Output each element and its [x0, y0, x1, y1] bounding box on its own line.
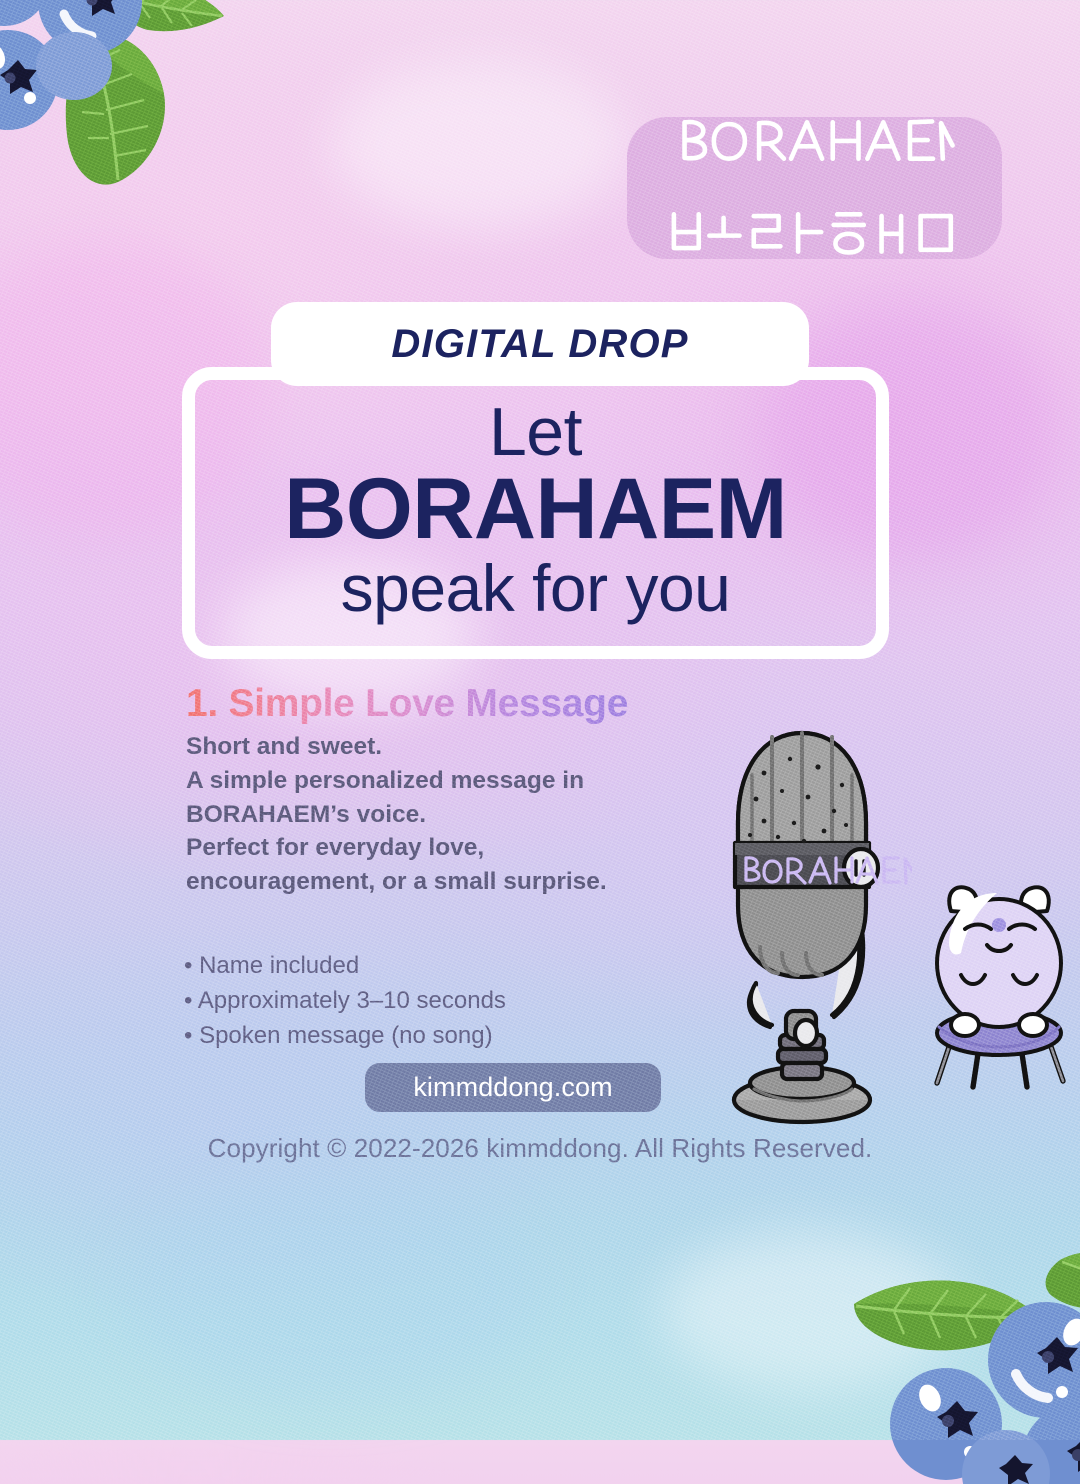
body-line: encouragement, or a small surprise.	[186, 865, 686, 899]
body-line: BORAHAEM’s voice.	[186, 798, 686, 832]
vintage-microphone-illustration	[694, 715, 912, 1130]
headline-line-2: BORAHAEM	[182, 466, 889, 554]
digital-drop-badge: DIGITAL DROP	[271, 302, 809, 386]
brand-logo-badge	[627, 117, 1002, 259]
body-line: A simple personalized message in	[186, 764, 686, 798]
brand-logo-lettering	[660, 117, 970, 209]
list-item: • Spoken message (no song)	[184, 1018, 654, 1053]
list-item: • Approximately 3–10 seconds	[184, 983, 654, 1018]
website-url-label: kimmddong.com	[413, 1072, 612, 1103]
body-line: Perfect for everyday love,	[186, 831, 686, 865]
wash-blue-bottom	[120, 1180, 540, 1400]
digital-drop-label: DIGITAL DROP	[391, 322, 688, 367]
blueberry-cluster-top-left	[0, 0, 234, 208]
copyright-text: Copyright © 2022-2026 kimmddong. All Rig…	[0, 1133, 1080, 1164]
body-line: Short and sweet.	[186, 730, 686, 764]
section-body: Short and sweet. A simple personalized m…	[186, 730, 686, 899]
hamster-mascot-illustration	[921, 875, 1076, 1090]
headline-line-3: speak for you	[182, 554, 889, 624]
blueberry-cluster-bottom-right	[838, 1252, 1080, 1484]
list-item: • Name included	[184, 948, 654, 983]
section-title: 1. Simple Love Message	[186, 682, 628, 726]
website-badge[interactable]: kimmddong.com	[365, 1063, 661, 1112]
hamster-nose-dot	[992, 918, 1006, 932]
feature-bullet-list: • Name included • Approximately 3–10 sec…	[184, 948, 654, 1053]
wash-white-top	[330, 60, 630, 230]
brand-logo-hangul	[650, 209, 980, 259]
headline-block: Let BORAHAEM speak for you	[182, 400, 889, 624]
headline-line-1: Let	[182, 400, 889, 466]
